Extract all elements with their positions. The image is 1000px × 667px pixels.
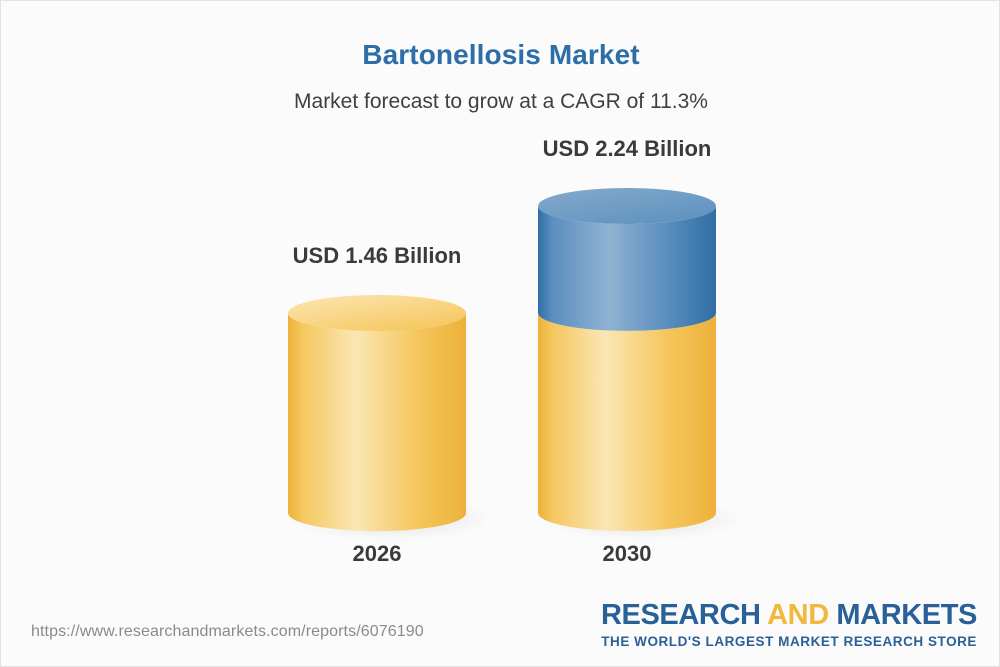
bar-category-label-2030: 2030 <box>427 541 827 567</box>
chart-canvas: Bartonellosis Market Market forecast to … <box>0 0 1000 667</box>
bar-value-label-2026: USD 1.46 Billion <box>177 243 577 269</box>
logo-wordmark: RESEARCH AND MARKETS <box>601 601 977 630</box>
logo-word-research: RESEARCH <box>601 599 767 631</box>
research-and-markets-logo[interactable]: RESEARCH AND MARKETS THE WORLD'S LARGEST… <box>601 601 977 649</box>
logo-tagline: THE WORLD'S LARGEST MARKET RESEARCH STOR… <box>601 635 977 649</box>
bar-cylinder-2030[interactable] <box>518 184 736 541</box>
report-url[interactable]: https://www.researchandmarkets.com/repor… <box>31 623 424 641</box>
logo-word-markets: MARKETS <box>836 599 977 631</box>
plot-area: USD 1.46 Billion 2026 USD 2.24 Billion 2… <box>1 1 1000 601</box>
bar-cylinder-2026[interactable] <box>268 291 486 541</box>
bar-value-label-2030: USD 2.24 Billion <box>427 136 827 162</box>
logo-word-and: AND <box>767 599 836 631</box>
